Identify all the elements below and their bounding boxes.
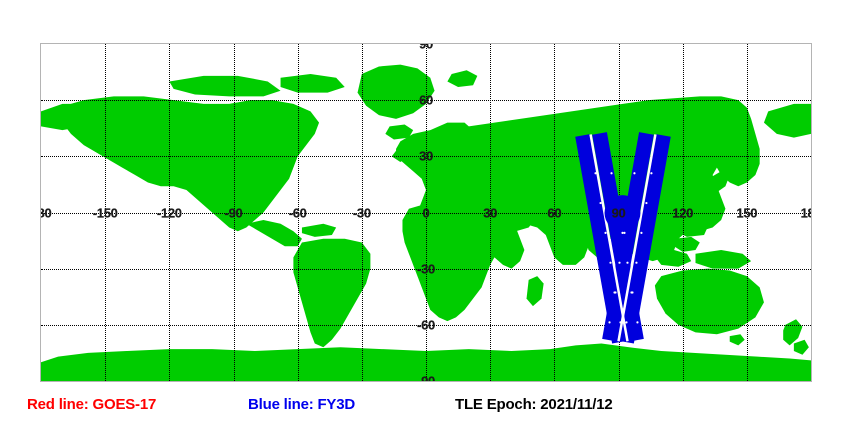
legend-tle-epoch: TLE Epoch: 2021/11/12 (455, 396, 613, 413)
legend-red-line-goes17: Red line: GOES-17 (27, 396, 156, 413)
legend-blue-line-fy3d: Blue line: FY3D (248, 396, 355, 413)
map-legend: Red line: GOES-17 Blue line: FY3D TLE Ep… (0, 392, 850, 425)
satellite-track-map-figure: -150 -120 -90 -60 -30 0 30 60 90 120 150… (0, 0, 850, 392)
world-map-landmasses (41, 44, 811, 381)
map-plot-area: -150 -120 -90 -60 -30 0 30 60 90 120 150… (40, 43, 812, 382)
